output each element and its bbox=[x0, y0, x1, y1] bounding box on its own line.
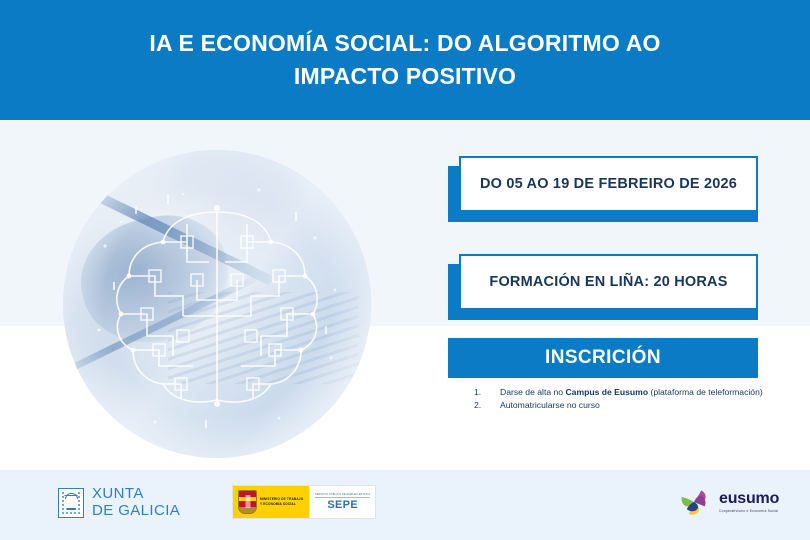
list-item-number: 2. bbox=[474, 399, 500, 411]
xunta-logo-line-2: DE GALICIA bbox=[92, 503, 180, 520]
stylus-shape bbox=[63, 160, 274, 285]
ministry-block: MINISTERIO DE TRABAJO Y ECONOMÍA SOCIAL bbox=[233, 486, 309, 518]
step-text-before: Automatricularse no curso bbox=[500, 400, 600, 410]
course-poster: IA E ECONOMÍA SOCIAL: DO ALGORITMO AOIMP… bbox=[0, 0, 810, 540]
eusumo-word-sumo: sumo bbox=[737, 490, 779, 507]
course-hours-box: FORMACIÓN EN LIÑA: 20 HORAS bbox=[448, 254, 758, 310]
course-dates-box: DO 05 AO 19 DE FEBREIRO DE 2026 bbox=[448, 156, 758, 212]
step-text-after: (plataforma de teleformación) bbox=[648, 387, 763, 397]
eusumo-four-point-star-icon bbox=[676, 484, 712, 520]
course-hours-label: FORMACIÓN EN LIÑA: 20 HORAS bbox=[489, 274, 727, 290]
list-item-number: 1. bbox=[474, 386, 500, 398]
eusumo-tagline: Cooperativismo e Economía Social bbox=[719, 509, 779, 513]
xunta-de-galicia-shield-icon bbox=[58, 488, 84, 518]
step-text-before: Darse de alta no bbox=[500, 387, 565, 397]
xunta-logo-line-1: XUNTA bbox=[92, 486, 180, 503]
page-title-line-1: IA E ECONOMÍA SOCIAL: DO ALGORITMO AO bbox=[149, 30, 660, 56]
hand-shape bbox=[70, 204, 240, 355]
inscription-steps-list: 1. Darse de alta no Campus de Eusumo (pl… bbox=[474, 386, 764, 412]
stylus-shape-secondary bbox=[63, 276, 257, 377]
box-card: DO 05 AO 19 DE FEBREIRO DE 2026 bbox=[459, 156, 758, 212]
xunta-logo-text: XUNTA DE GALICIA bbox=[92, 486, 180, 520]
eusumo-wordmark: eusumo bbox=[719, 491, 779, 507]
ai-brain-circuit-image bbox=[63, 150, 371, 458]
box-card: FORMACIÓN EN LIÑA: 20 HORAS bbox=[459, 254, 758, 310]
sepe-block: SERVICIO PÚBLICO DE EMPLEO ESTATAL SEPE bbox=[309, 486, 375, 518]
page-title: IA E ECONOMÍA SOCIAL: DO ALGORITMO AOIMP… bbox=[85, 27, 725, 94]
list-item: 1. Darse de alta no Campus de Eusumo (pl… bbox=[474, 386, 764, 398]
inscription-banner: INSCRICIÓN bbox=[448, 338, 758, 378]
step-text-bold: Campus de Eusumo bbox=[565, 387, 648, 397]
gobierno-sepe-logo: MINISTERIO DE TRABAJO Y ECONOMÍA SOCIAL … bbox=[232, 485, 376, 519]
list-item-text: Automatricularse no curso bbox=[500, 399, 600, 411]
keyboard-shape bbox=[168, 292, 359, 384]
sepe-wordmark: SEPE bbox=[327, 500, 358, 511]
ministry-label: MINISTERIO DE TRABAJO Y ECONOMÍA SOCIAL bbox=[260, 497, 304, 507]
eusumo-logo-text: eusumo Cooperativismo e Economía Social bbox=[719, 491, 779, 513]
list-item-text: Darse de alta no Campus de Eusumo (plata… bbox=[500, 386, 763, 398]
circuit-brain-icon bbox=[63, 150, 371, 458]
eusumo-word-eu: eu bbox=[719, 490, 737, 507]
eusumo-logo: eusumo Cooperativismo e Economía Social bbox=[676, 484, 779, 520]
list-item: 2. Automatricularse no curso bbox=[474, 399, 764, 411]
shield-chalice bbox=[66, 496, 77, 510]
inscription-title: INSCRICIÓN bbox=[545, 347, 661, 369]
hero-image bbox=[63, 150, 371, 458]
course-dates-label: DO 05 AO 19 DE FEBREIRO DE 2026 bbox=[480, 176, 737, 192]
spain-coat-of-arms-icon bbox=[238, 490, 257, 514]
poster-header: IA E ECONOMÍA SOCIAL: DO ALGORITMO AOIMP… bbox=[0, 0, 810, 120]
page-title-line-2: IMPACTO POSITIVO bbox=[294, 63, 516, 89]
sepe-subtitle: SERVICIO PÚBLICO DE EMPLEO ESTATAL bbox=[315, 493, 370, 499]
xunta-de-galicia-logo: XUNTA DE GALICIA bbox=[58, 486, 180, 520]
